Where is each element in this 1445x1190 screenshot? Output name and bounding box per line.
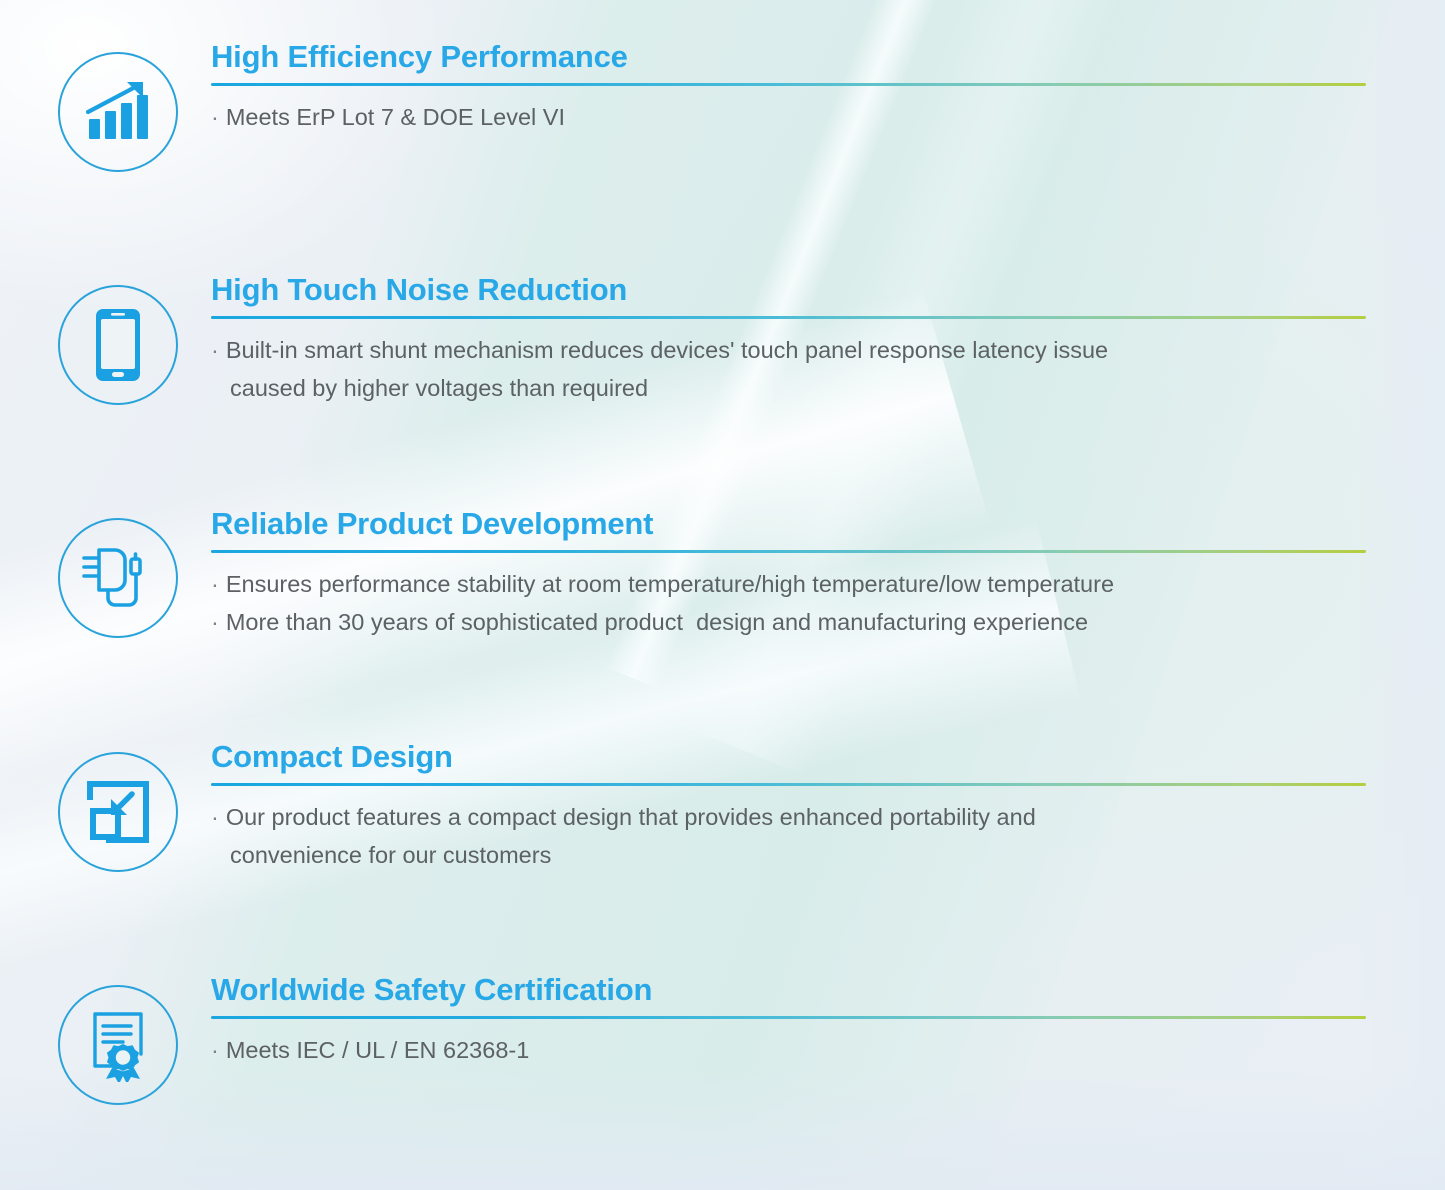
feature-divider bbox=[211, 783, 1366, 786]
feature-title: Worldwide Safety Certification bbox=[211, 971, 1366, 1009]
feature-bullet-list: · Built-in smart shunt mechanism reduces… bbox=[211, 331, 1366, 407]
feature-text-block: Worldwide Safety Certification · Meets I… bbox=[211, 971, 1366, 1069]
feature-bullet-list: · Ensures performance stability at room … bbox=[211, 565, 1366, 641]
certificate-seal-icon bbox=[58, 985, 178, 1105]
feature-divider bbox=[211, 550, 1366, 553]
growth-chart-icon bbox=[58, 52, 178, 172]
feature-icon-container bbox=[58, 985, 178, 1105]
feature-bullet-text: More than 30 years of sophisticated prod… bbox=[226, 603, 1088, 641]
bullet-dot-icon: · bbox=[211, 798, 219, 836]
feature-title: Compact Design bbox=[211, 738, 1366, 776]
feature-bullet-list: · Meets ErP Lot 7 & DOE Level VI bbox=[211, 98, 1366, 136]
feature-title: High Touch Noise Reduction bbox=[211, 271, 1366, 309]
feature-divider bbox=[211, 83, 1366, 86]
feature-bullet-text: Meets IEC / UL / EN 62368-1 bbox=[226, 1031, 529, 1069]
feature-bullet-line: · Ensures performance stability at room … bbox=[211, 565, 1366, 603]
feature-icon-container bbox=[58, 52, 178, 172]
feature-bullet-line: · Our product features a compact design … bbox=[211, 798, 1366, 836]
smartphone-icon bbox=[58, 285, 178, 405]
bullet-dot-icon: · bbox=[211, 1031, 219, 1069]
feature-text-block: High Touch Noise Reduction · Built-in sm… bbox=[211, 271, 1366, 407]
feature-bullet-continuation: caused by higher voltages than required bbox=[211, 369, 1366, 407]
bullet-dot-icon: · bbox=[211, 98, 219, 136]
feature-icon-container bbox=[58, 285, 178, 405]
feature-title: Reliable Product Development bbox=[211, 505, 1366, 543]
power-adapter-icon bbox=[58, 518, 178, 638]
feature-bullet-list: · Meets IEC / UL / EN 62368-1 bbox=[211, 1031, 1366, 1069]
feature-bullet-text: caused by higher voltages than required bbox=[230, 369, 648, 407]
bullet-dot-icon: · bbox=[211, 331, 219, 369]
feature-list: High Efficiency Performance · Meets ErP … bbox=[0, 0, 1445, 1190]
feature-divider bbox=[211, 1016, 1366, 1019]
feature-text-block: Reliable Product Development · Ensures p… bbox=[211, 505, 1366, 641]
feature-bullet-line: · Built-in smart shunt mechanism reduces… bbox=[211, 331, 1366, 369]
feature-bullet-text: convenience for our customers bbox=[230, 836, 551, 874]
feature-text-block: High Efficiency Performance · Meets ErP … bbox=[211, 38, 1366, 136]
feature-icon-container bbox=[58, 518, 178, 638]
feature-bullet-list: · Our product features a compact design … bbox=[211, 798, 1366, 874]
feature-bullet-text: Our product features a compact design th… bbox=[226, 798, 1036, 836]
feature-bullet-text: Meets ErP Lot 7 & DOE Level VI bbox=[226, 98, 565, 136]
feature-bullet-line: · Meets IEC / UL / EN 62368-1 bbox=[211, 1031, 1366, 1069]
compact-resize-icon bbox=[58, 752, 178, 872]
feature-divider bbox=[211, 316, 1366, 319]
feature-title: High Efficiency Performance bbox=[211, 38, 1366, 76]
feature-bullet-text: Ensures performance stability at room te… bbox=[226, 565, 1114, 603]
feature-icon-container bbox=[58, 752, 178, 872]
feature-text-block: Compact Design · Our product features a … bbox=[211, 738, 1366, 874]
feature-bullet-text: Built-in smart shunt mechanism reduces d… bbox=[226, 331, 1108, 369]
bullet-dot-icon: · bbox=[211, 603, 219, 641]
feature-bullet-line: · More than 30 years of sophisticated pr… bbox=[211, 603, 1366, 641]
feature-bullet-continuation: convenience for our customers bbox=[211, 836, 1366, 874]
feature-bullet-line: · Meets ErP Lot 7 & DOE Level VI bbox=[211, 98, 1366, 136]
bullet-dot-icon: · bbox=[211, 565, 219, 603]
